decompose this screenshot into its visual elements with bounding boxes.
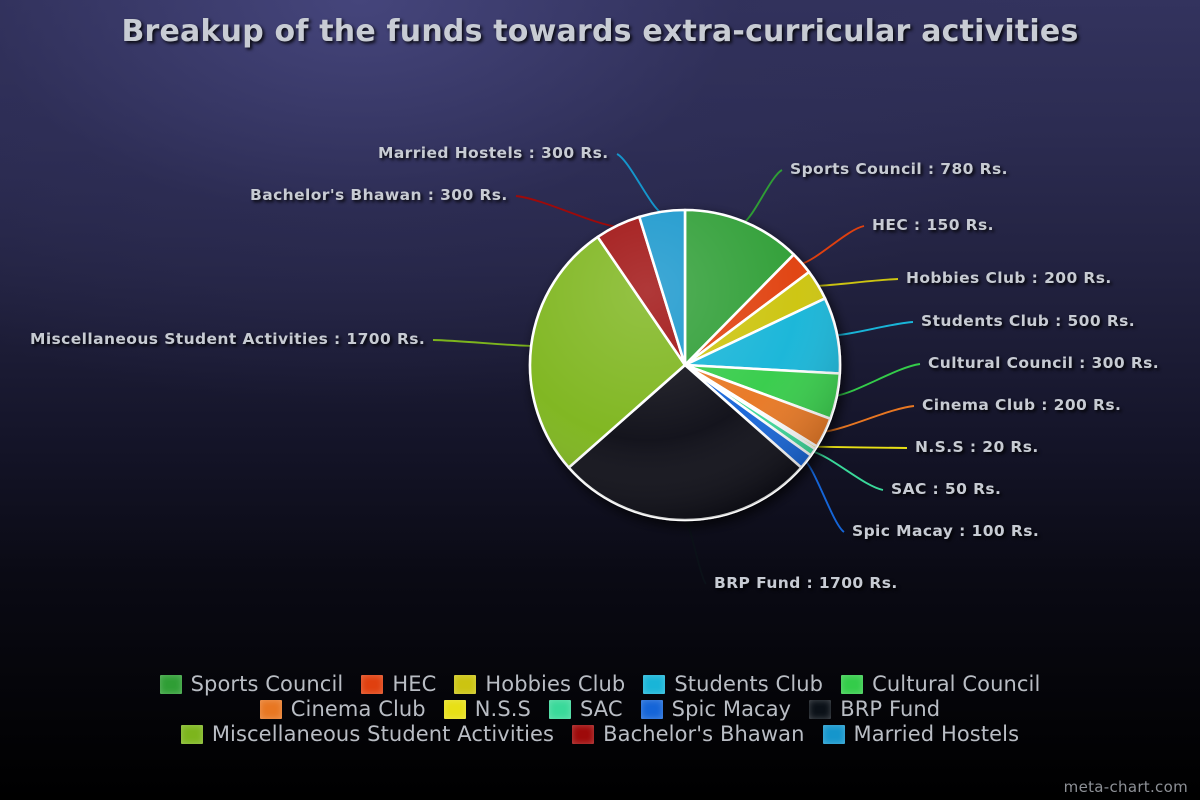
leader-line-cultural-council	[835, 364, 920, 396]
legend-label: Miscellaneous Student Activities	[212, 722, 554, 746]
watermark: meta-chart.com	[1064, 778, 1188, 796]
slice-label-sports-council: Sports Council : 780 Rs.	[790, 160, 1008, 178]
legend-swatch-icon	[160, 675, 182, 694]
slice-label-students-club: Students Club : 500 Rs.	[921, 312, 1135, 330]
legend-row: Miscellaneous Student ActivitiesBachelor…	[172, 722, 1028, 746]
legend-item-hec[interactable]: HEC	[361, 672, 436, 696]
legend-item-cultural-council[interactable]: Cultural Council	[841, 672, 1040, 696]
legend-row: Sports CouncilHECHobbies ClubStudents Cl…	[151, 672, 1050, 696]
leader-line-students-club	[835, 322, 913, 335]
legend-label: N.S.S	[475, 697, 531, 721]
chart-legend: Sports CouncilHECHobbies ClubStudents Cl…	[0, 672, 1200, 746]
leader-line-cinema-club	[823, 406, 915, 432]
slice-label-hobbies-club: Hobbies Club : 200 Rs.	[906, 269, 1112, 287]
legend-label: Cultural Council	[872, 672, 1040, 696]
slice-label-cinema-club: Cinema Club : 200 Rs.	[922, 396, 1121, 414]
leader-line-brp-fund	[685, 518, 706, 584]
legend-item-spic-macay[interactable]: Spic Macay	[641, 697, 792, 721]
slice-label-brp-fund: BRP Fund : 1700 Rs.	[714, 574, 898, 592]
legend-item-cinema-club[interactable]: Cinema Club	[260, 697, 426, 721]
slice-label-married-hostels: Married Hostels : 300 Rs.	[378, 144, 609, 162]
legend-item-married-hostels[interactable]: Married Hostels	[823, 722, 1020, 746]
legend-item-students-club[interactable]: Students Club	[643, 672, 823, 696]
slice-label-spic-macay: Spic Macay : 100 Rs.	[852, 522, 1039, 540]
legend-swatch-icon	[181, 725, 203, 744]
slice-label-bachelors-bhawan: Bachelor's Bhawan : 300 Rs.	[250, 186, 508, 204]
legend-row: Cinema ClubN.S.SSACSpic MacayBRP Fund	[251, 697, 949, 721]
legend-item-sac[interactable]: SAC	[549, 697, 623, 721]
slice-label-hec: HEC : 150 Rs.	[872, 216, 994, 234]
legend-swatch-icon	[361, 675, 383, 694]
legend-swatch-icon	[809, 700, 831, 719]
legend-item-hobbies-club[interactable]: Hobbies Club	[454, 672, 625, 696]
legend-label: Sports Council	[191, 672, 344, 696]
leader-line-misc-activities	[433, 340, 533, 346]
leader-line-hec	[800, 226, 864, 264]
legend-swatch-icon	[823, 725, 845, 744]
leader-line-married-hostels	[617, 154, 662, 214]
legend-item-bachelor-s-bhawan[interactable]: Bachelor's Bhawan	[572, 722, 804, 746]
leader-line-hobbies-club	[816, 279, 898, 286]
legend-swatch-icon	[643, 675, 665, 694]
legend-label: BRP Fund	[840, 697, 940, 721]
legend-swatch-icon	[641, 700, 663, 719]
legend-item-n-s-s[interactable]: N.S.S	[444, 697, 531, 721]
legend-item-miscellaneous-student-activities[interactable]: Miscellaneous Student Activities	[181, 722, 554, 746]
legend-swatch-icon	[841, 675, 863, 694]
legend-label: Students Club	[674, 672, 823, 696]
chart-canvas: Breakup of the funds towards extra-curri…	[0, 0, 1200, 800]
leader-line-nss	[814, 447, 907, 448]
legend-item-brp-fund[interactable]: BRP Fund	[809, 697, 940, 721]
legend-label: Hobbies Club	[485, 672, 625, 696]
leader-line-sac	[811, 451, 883, 490]
pie-slices	[530, 210, 840, 520]
slice-label-misc-activities: Miscellaneous Student Activities : 1700 …	[30, 330, 425, 348]
legend-swatch-icon	[572, 725, 594, 744]
legend-label: SAC	[580, 697, 623, 721]
legend-label: Spic Macay	[672, 697, 792, 721]
legend-label: Married Hostels	[854, 722, 1020, 746]
legend-swatch-icon	[549, 700, 571, 719]
slice-label-sac: SAC : 50 Rs.	[891, 480, 1001, 498]
leader-line-spic-macay	[805, 460, 844, 532]
legend-label: Bachelor's Bhawan	[603, 722, 804, 746]
legend-item-sports-council[interactable]: Sports Council	[160, 672, 344, 696]
slice-label-cultural-council: Cultural Council : 300 Rs.	[928, 354, 1159, 372]
slice-label-nss: N.S.S : 20 Rs.	[915, 438, 1039, 456]
legend-label: HEC	[392, 672, 436, 696]
pie-plot-area: Sports Council : 780 Rs.HEC : 150 Rs.Hob…	[0, 0, 1200, 660]
leader-line-sports-council	[743, 170, 782, 223]
legend-swatch-icon	[260, 700, 282, 719]
legend-swatch-icon	[444, 700, 466, 719]
leader-line-bachelors-bhawan	[516, 196, 619, 227]
legend-label: Cinema Club	[291, 697, 426, 721]
legend-swatch-icon	[454, 675, 476, 694]
